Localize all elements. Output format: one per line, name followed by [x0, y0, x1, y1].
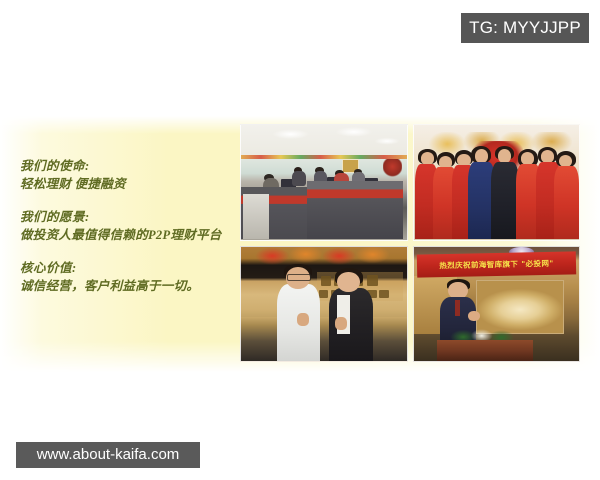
- person-head: [541, 150, 554, 163]
- photo-staff-group: [413, 124, 581, 241]
- photo-reception-thumbs-up: [240, 246, 408, 363]
- congratulation-banner-text: 热烈庆祝前海智库旗下 "必投网": [439, 258, 554, 271]
- slogan-text-block: 我们的使命: 轻松理财 便捷融资 我们的愿景: 做投资人最值得信赖的P2P理财平…: [20, 158, 235, 295]
- office-cubicle: [307, 181, 403, 239]
- slogan-vision-heading: 我们的愿景:: [20, 209, 235, 226]
- gesturing-hand: [468, 311, 480, 321]
- slogan-core-values-heading: 核心价值:: [20, 260, 235, 277]
- person-body: [554, 166, 579, 239]
- slogan-core-values-body: 诚信经营，客户利益高于一切。: [20, 277, 235, 295]
- red-wall-decoration: [383, 159, 401, 177]
- slogan-mission-heading: 我们的使命:: [20, 158, 235, 175]
- congratulation-banner: 热烈庆祝前海智库旗下 "必投网": [417, 252, 576, 278]
- slogan-core-values: 核心价值: 诚信经营，客户利益高于一切。: [20, 260, 235, 295]
- thumbs-up-hand: [335, 317, 347, 330]
- slogan-mission: 我们的使命: 轻松理财 便捷融资: [20, 158, 235, 193]
- thumbs-up-hand: [297, 313, 309, 326]
- tg-watermark-badge: TG: MYYJJPP: [461, 13, 589, 43]
- slogan-vision: 我们的愿景: 做投资人最值得信赖的P2P理财平台: [20, 209, 235, 244]
- photo-office-interior: [240, 124, 408, 241]
- site-watermark-badge: www.about-kaifa.com: [16, 442, 200, 468]
- person-head: [498, 149, 511, 163]
- person-head: [475, 149, 488, 163]
- photo-collage: 热烈庆祝前海智库旗下 "必投网": [240, 124, 580, 362]
- ceiling-streamer: [241, 155, 407, 159]
- eyeglasses: [287, 274, 311, 281]
- festive-garland: [251, 247, 403, 265]
- slogan-vision-body: 做投资人最值得信赖的P2P理财平台: [20, 226, 235, 244]
- necktie: [455, 300, 460, 316]
- reception-counter: [241, 317, 407, 361]
- slogan-mission-body: 轻松理财 便捷融资: [20, 175, 235, 193]
- person-body: [292, 171, 305, 186]
- projection-screen: [476, 280, 564, 335]
- podium-lectern: [437, 340, 533, 361]
- photo-podium-speech: 热烈庆祝前海智库旗下 "必投网": [413, 246, 581, 363]
- office-partition: [243, 194, 269, 240]
